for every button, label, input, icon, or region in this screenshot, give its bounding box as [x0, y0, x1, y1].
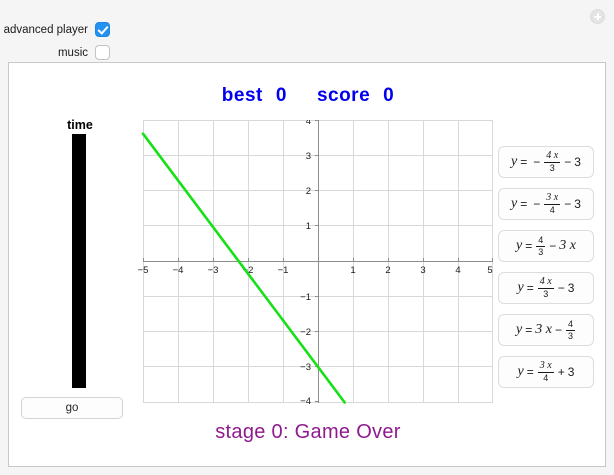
- svg-text:−4: −4: [300, 396, 311, 407]
- eq6-lhs: y: [518, 364, 524, 380]
- time-label: time: [55, 118, 105, 132]
- eq2-lhs: y: [511, 196, 517, 212]
- svg-text:1: 1: [350, 265, 355, 276]
- eq1-sign: −: [533, 155, 540, 169]
- svg-text:4: 4: [306, 120, 311, 127]
- game-panel: best0score0 time go: [8, 62, 606, 467]
- svg-text:3: 3: [420, 265, 425, 276]
- eq3-tail: 3 x: [559, 238, 576, 254]
- eq3-denominator: 3: [538, 247, 543, 257]
- answer-button-1[interactable]: y = − 4 x 3 − 3: [498, 146, 594, 178]
- answer-button-4[interactable]: y = 4 x 3 − 3: [498, 272, 594, 304]
- answer-button-6[interactable]: y = 3 x 4 + 3: [498, 356, 594, 388]
- eq4-equals: =: [527, 281, 534, 295]
- eq2-denominator: 4: [550, 205, 555, 215]
- svg-text:5: 5: [487, 265, 492, 276]
- advanced-player-checkbox[interactable]: [95, 22, 110, 37]
- eq6-tail-op: +: [558, 365, 565, 379]
- eq4-numerator: 4 x: [538, 277, 554, 289]
- scoreboard: best0score0: [9, 85, 607, 107]
- music-checkbox[interactable]: [95, 45, 110, 60]
- eq5-lead: 3 x: [535, 322, 552, 338]
- eq5-denominator: 3: [568, 331, 573, 341]
- eq4-tail-op: −: [558, 281, 565, 295]
- plus-circle-icon[interactable]: [590, 9, 605, 24]
- eq5-lhs: y: [516, 322, 522, 338]
- svg-text:−3: −3: [300, 362, 311, 373]
- answer-button-2[interactable]: y = − 3 x 4 − 3: [498, 188, 594, 220]
- eq5-numerator: 4: [566, 320, 575, 331]
- eq5-equals: =: [525, 323, 532, 337]
- eq2-numerator: 3 x: [544, 193, 560, 205]
- eq1-denominator: 3: [550, 163, 555, 173]
- score-value: 0: [383, 85, 394, 106]
- eq5-fraction: 4 3: [566, 320, 575, 341]
- advanced-player-label: advanced player: [4, 23, 88, 37]
- time-bar: [72, 134, 86, 388]
- eq4-lhs: y: [518, 280, 524, 296]
- eq6-equals: =: [527, 365, 534, 379]
- svg-text:2: 2: [306, 186, 311, 197]
- svg-text:−3: −3: [208, 265, 219, 276]
- eq6-numerator: 3 x: [538, 361, 554, 373]
- eq2-tail: 3: [574, 197, 581, 211]
- svg-text:2: 2: [385, 265, 390, 276]
- eq3-tail-op: −: [549, 239, 556, 253]
- svg-text:1: 1: [306, 221, 311, 232]
- eq6-tail: 3: [568, 365, 575, 379]
- app-root: advanced player music best0score0 time g…: [0, 0, 614, 475]
- advanced-player-control[interactable]: advanced player: [6, 22, 110, 37]
- svg-text:−1: −1: [278, 265, 289, 276]
- eq1-tail-op: −: [564, 155, 571, 169]
- eq2-equals: =: [520, 197, 527, 211]
- graph-svg: −5 −4 −3 −2 −1 1 2 3 4 5 4 3 2 1: [127, 120, 493, 418]
- svg-text:3: 3: [306, 151, 311, 162]
- eq1-numerator: 4 x: [544, 151, 560, 163]
- music-control[interactable]: music: [6, 45, 110, 60]
- eq3-lhs: y: [516, 238, 522, 254]
- answer-button-5[interactable]: y = 3 x − 4 3: [498, 314, 594, 346]
- best-value: 0: [276, 85, 287, 106]
- eq4-denominator: 3: [543, 289, 548, 299]
- svg-text:−2: −2: [300, 327, 311, 338]
- svg-text:4: 4: [455, 265, 460, 276]
- eq1-lhs: y: [511, 154, 517, 170]
- go-button[interactable]: go: [21, 397, 123, 419]
- control-bar: advanced player music: [0, 0, 614, 62]
- eq1-tail: 3: [574, 155, 581, 169]
- eq2-tail-op: −: [564, 197, 571, 211]
- svg-text:−5: −5: [138, 265, 149, 276]
- stage-status: stage 0: Game Over: [9, 421, 607, 444]
- eq3-fraction: 4 3: [536, 236, 545, 257]
- eq4-fraction: 4 x 3: [538, 277, 554, 299]
- eq1-equals: =: [520, 155, 527, 169]
- best-label: best: [222, 85, 263, 106]
- music-label: music: [58, 46, 88, 60]
- eq2-sign: −: [533, 197, 540, 211]
- eq3-equals: =: [525, 239, 532, 253]
- answer-button-3[interactable]: y = 4 3 − 3 x: [498, 230, 594, 262]
- score-label: score: [317, 85, 370, 106]
- eq3-numerator: 4: [536, 236, 545, 247]
- eq1-fraction: 4 x 3: [544, 151, 560, 173]
- eq6-fraction: 3 x 4: [538, 361, 554, 383]
- eq2-fraction: 3 x 4: [544, 193, 560, 215]
- svg-text:−1: −1: [300, 292, 311, 303]
- eq5-tail-op: −: [555, 323, 562, 337]
- svg-text:−4: −4: [173, 265, 184, 276]
- eq4-tail: 3: [568, 281, 575, 295]
- answer-choices: y = − 4 x 3 − 3 y = − 3 x: [498, 146, 594, 398]
- eq6-denominator: 4: [543, 373, 548, 383]
- coordinate-plane: −5 −4 −3 −2 −1 1 2 3 4 5 4 3 2 1: [127, 120, 493, 418]
